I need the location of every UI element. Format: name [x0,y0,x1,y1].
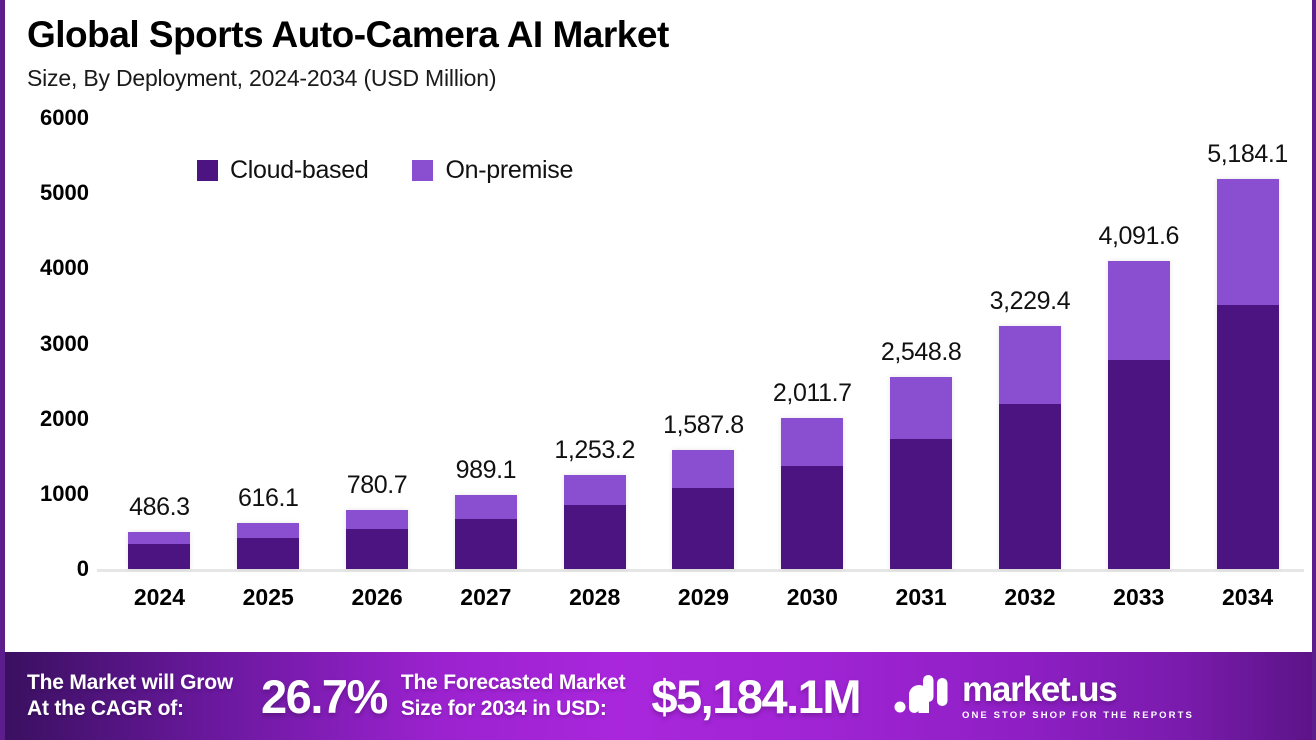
bar-value-label: 1,587.8 [663,411,744,440]
chart-subtitle: Size, By Deployment, 2024-2034 (USD Mill… [27,65,1312,92]
y-axis-tick: 4000 [5,255,89,281]
market-us-logo[interactable]: market.us ONE STOP SHOP FOR THE REPORTS [894,672,1194,721]
x-axis-tick: 2027 [460,584,511,611]
bar-stack[interactable] [564,475,626,569]
bar-group[interactable]: 989.12027 [431,118,540,636]
y-axis-tick: 2000 [5,406,89,432]
bar-segment-on-premise[interactable] [672,450,734,488]
bar-segment-on-premise[interactable] [890,377,952,439]
forecast-label: The Forecasted Market Size for 2034 in U… [401,670,626,721]
logo-bars-icon [894,672,950,721]
bar-segment-cloud-based[interactable] [346,529,408,569]
bar-value-label: 3,229.4 [990,287,1071,316]
bar-group[interactable]: 2,548.82031 [867,118,976,636]
y-axis-tick: 6000 [5,105,89,131]
bar-segment-cloud-based[interactable] [564,505,626,569]
y-axis-tick: 5000 [5,180,89,206]
bar-stack[interactable] [1217,179,1279,569]
bar-stack[interactable] [128,532,190,569]
bar-segment-cloud-based[interactable] [1108,360,1170,569]
bar-group[interactable]: 5,184.12034 [1193,118,1302,636]
bar-value-label: 4,091.6 [1098,222,1179,251]
bar-segment-cloud-based[interactable] [128,544,190,569]
logo-text: market.us ONE STOP SHOP FOR THE REPORTS [962,672,1194,721]
page-title: Global Sports Auto-Camera AI Market [27,14,1312,55]
summary-footer: The Market will Grow At the CAGR of: 26.… [5,652,1312,740]
bar-segment-cloud-based[interactable] [237,538,299,569]
bar-segment-cloud-based[interactable] [999,404,1061,569]
bar-series-container: 486.32024616.12025780.72026989.120271,25… [105,118,1302,636]
bar-segment-cloud-based[interactable] [781,466,843,569]
plot-area: 6000500040003000200010000 Cloud-based On… [5,118,1312,636]
legend-label-cloud-based: Cloud-based [230,156,368,185]
chart-legend: Cloud-based On-premise [197,156,573,185]
logo-wordmark: market.us [962,672,1194,707]
chart-header: Global Sports Auto-Camera AI Market Size… [5,0,1312,92]
bar-stack[interactable] [672,450,734,569]
legend-swatch-onprem-icon [412,160,433,181]
bar-segment-on-premise[interactable] [237,523,299,538]
legend-item-cloud-based[interactable]: Cloud-based [197,156,368,185]
bar-segment-on-premise[interactable] [999,326,1061,404]
forecast-label-line1: The Forecasted Market [401,670,626,696]
bar-segment-cloud-based[interactable] [890,439,952,569]
x-axis-tick: 2031 [896,584,947,611]
bar-group[interactable]: 3,229.42032 [976,118,1085,636]
chart-page: Global Sports Auto-Camera AI Market Size… [0,0,1316,740]
x-axis-tick: 2032 [1004,584,1055,611]
legend-label-on-premise: On-premise [445,156,573,185]
bar-segment-on-premise[interactable] [564,475,626,505]
legend-swatch-cloud-icon [197,160,218,181]
x-axis-tick: 2033 [1113,584,1164,611]
cagr-label: The Market will Grow At the CAGR of: [27,670,233,721]
bar-segment-on-premise[interactable] [1108,261,1170,360]
bar-value-label: 1,253.2 [554,436,635,465]
bar-stack[interactable] [455,495,517,569]
bar-group[interactable]: 4,091.62033 [1084,118,1193,636]
cagr-value: 26.7% [261,669,387,724]
bar-value-label: 989.1 [456,456,517,485]
logo-tagline: ONE STOP SHOP FOR THE REPORTS [962,711,1194,721]
bar-value-label: 5,184.1 [1207,140,1288,169]
bar-group[interactable]: 2,011.72030 [758,118,867,636]
bar-stack[interactable] [781,418,843,569]
x-axis-tick: 2025 [243,584,294,611]
bar-stack[interactable] [999,326,1061,569]
bar-segment-on-premise[interactable] [1217,179,1279,304]
bar-segment-on-premise[interactable] [346,510,408,529]
x-axis-tick: 2026 [351,584,402,611]
bar-segment-cloud-based[interactable] [1217,305,1279,569]
bar-group[interactable]: 1,587.82029 [649,118,758,636]
bar-stack[interactable] [1108,261,1170,569]
bar-value-label: 780.7 [347,471,408,500]
bar-segment-cloud-based[interactable] [672,488,734,569]
forecast-label-line2: Size for 2034 in USD: [401,696,626,722]
legend-item-on-premise[interactable]: On-premise [412,156,573,185]
bar-stack[interactable] [237,523,299,569]
x-axis-tick: 2024 [134,584,185,611]
bar-value-label: 2,011.7 [773,379,852,408]
x-axis-tick: 2029 [678,584,729,611]
y-axis-tick: 1000 [5,481,89,507]
bar-segment-on-premise[interactable] [455,495,517,519]
bar-group[interactable]: 486.32024 [105,118,214,636]
x-axis-tick: 2030 [787,584,838,611]
bar-group[interactable]: 1,253.22028 [540,118,649,636]
bar-group[interactable]: 616.12025 [214,118,323,636]
bar-stack[interactable] [346,510,408,569]
bar-segment-cloud-based[interactable] [455,519,517,569]
cagr-label-line2: At the CAGR of: [27,696,233,722]
cagr-label-line1: The Market will Grow [27,670,233,696]
bar-segment-on-premise[interactable] [781,418,843,467]
bar-value-label: 486.3 [129,493,190,522]
bar-segment-on-premise[interactable] [128,532,190,544]
bar-value-label: 616.1 [238,484,299,513]
y-axis-tick: 3000 [5,331,89,357]
x-axis-tick: 2034 [1222,584,1273,611]
y-axis-tick: 0 [5,556,89,582]
bar-group[interactable]: 780.72026 [323,118,432,636]
forecast-value: $5,184.1M [651,669,860,724]
bar-stack[interactable] [890,377,952,569]
x-axis-tick: 2028 [569,584,620,611]
bar-value-label: 2,548.8 [881,338,962,367]
